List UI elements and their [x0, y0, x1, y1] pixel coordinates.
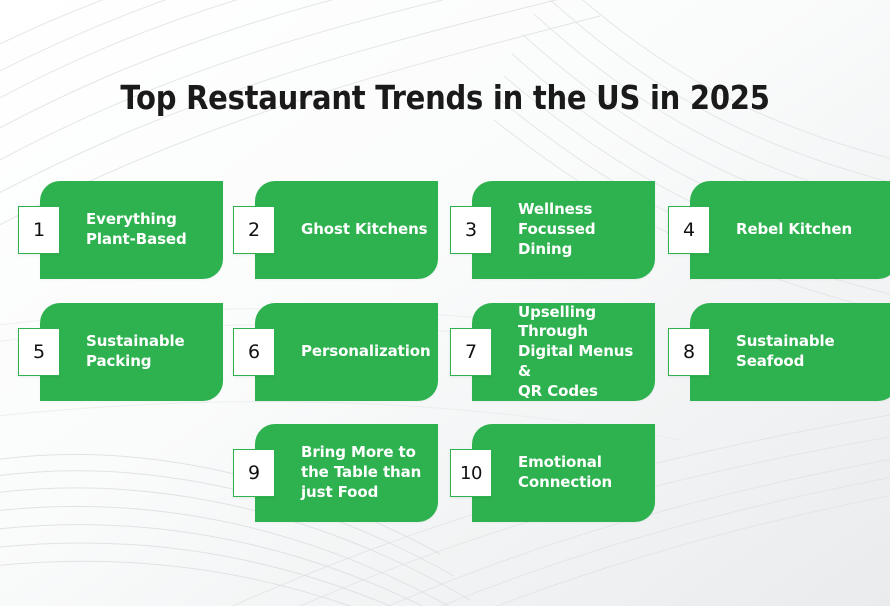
trend-card-2-label: Ghost Kitchens — [301, 181, 430, 279]
trend-card-8-label: Sustainable Seafood — [736, 303, 890, 401]
trend-card-5-body: Sustainable Packing — [40, 303, 223, 401]
trend-card-6-label: Personalization — [301, 303, 430, 401]
trend-card-2-body: Ghost Kitchens — [255, 181, 438, 279]
trend-card-5-number: 5 — [18, 328, 60, 376]
trend-card-10-number: 10 — [450, 449, 492, 497]
trend-card-2[interactable]: Ghost Kitchens 2 — [233, 181, 438, 279]
trend-card-8-number: 8 — [668, 328, 710, 376]
trend-card-3[interactable]: Wellness Focussed Dining 3 — [450, 181, 655, 279]
trend-card-9-label: Bring More to the Table than just Food — [301, 424, 430, 522]
trend-card-7-label: Upselling Through Digital Menus & QR Cod… — [518, 303, 647, 401]
trend-card-2-number: 2 — [233, 206, 275, 254]
trend-card-5-label: Sustainable Packing — [86, 303, 215, 401]
trend-card-5[interactable]: Sustainable Packing 5 — [18, 303, 223, 401]
trend-card-4-label: Rebel Kitchen — [736, 181, 890, 279]
trend-card-6[interactable]: Personalization 6 — [233, 303, 438, 401]
trend-card-4-body: Rebel Kitchen — [690, 181, 890, 279]
trend-card-4-number: 4 — [668, 206, 710, 254]
trend-card-3-label: Wellness Focussed Dining — [518, 181, 647, 279]
trend-card-3-number: 3 — [450, 206, 492, 254]
trend-card-10[interactable]: Emotional Connection 10 — [450, 424, 655, 522]
trend-card-9-number: 9 — [233, 449, 275, 497]
trends-card-grid: Everything Plant-Based 1 Ghost Kitchens … — [0, 0, 890, 606]
trend-card-6-number: 6 — [233, 328, 275, 376]
trend-card-8[interactable]: Sustainable Seafood 8 — [668, 303, 890, 401]
trend-card-1-number: 1 — [18, 206, 60, 254]
trend-card-1-label: Everything Plant-Based — [86, 181, 215, 279]
trend-card-10-label: Emotional Connection — [518, 424, 647, 522]
trend-card-1[interactable]: Everything Plant-Based 1 — [18, 181, 223, 279]
trend-card-9[interactable]: Bring More to the Table than just Food 9 — [233, 424, 438, 522]
trend-card-8-body: Sustainable Seafood — [690, 303, 890, 401]
trend-card-4[interactable]: Rebel Kitchen 4 — [668, 181, 890, 279]
infographic-canvas: Top Restaurant Trends in the US in 2025 … — [0, 0, 890, 606]
trend-card-10-body: Emotional Connection — [472, 424, 655, 522]
trend-card-6-body: Personalization — [255, 303, 438, 401]
trend-card-3-body: Wellness Focussed Dining — [472, 181, 655, 279]
trend-card-7-number: 7 — [450, 328, 492, 376]
trend-card-7-body: Upselling Through Digital Menus & QR Cod… — [472, 303, 655, 401]
trend-card-9-body: Bring More to the Table than just Food — [255, 424, 438, 522]
trend-card-1-body: Everything Plant-Based — [40, 181, 223, 279]
trend-card-7[interactable]: Upselling Through Digital Menus & QR Cod… — [450, 303, 655, 401]
